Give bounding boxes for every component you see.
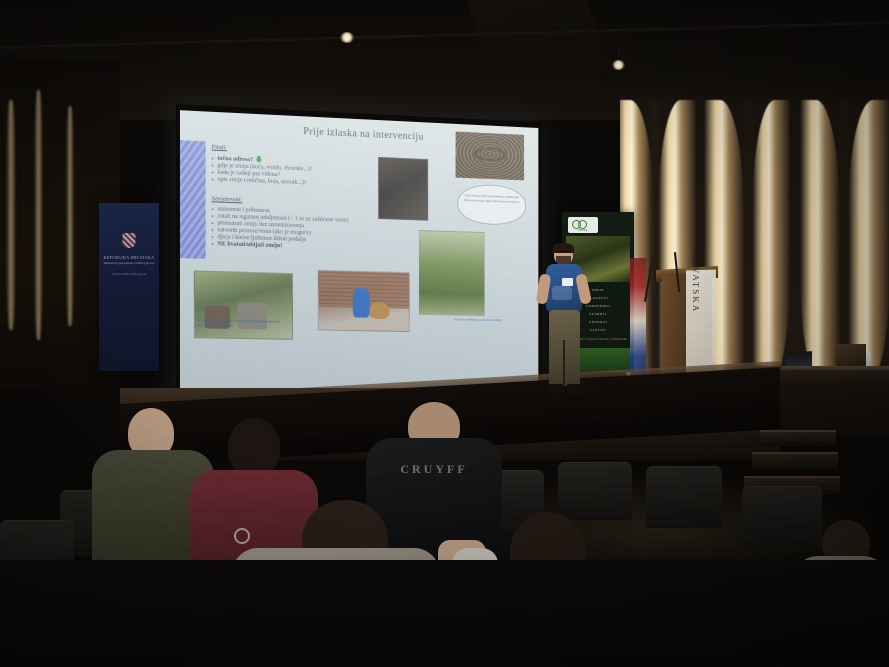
wall-light-wave [34, 90, 43, 340]
slide-photo-dark-interior [378, 157, 428, 221]
biota-logo: BIOTA [568, 217, 598, 233]
person-figure [353, 287, 369, 318]
stage-step-edge [752, 452, 838, 454]
croatian-flag [630, 258, 646, 384]
banner-left-line1: REPUBLIKA HRVATSKA [99, 255, 159, 260]
slide-photo-snake-coil [456, 132, 525, 181]
slide-caption-right: Nikad ne pokušavajte sami uhvatiti zmiju… [415, 317, 502, 323]
slide-speech-bubble: Ljudi obično budu prestrašeni pa mislim … [457, 183, 525, 226]
presenter-shoe [548, 384, 564, 393]
wall-light-wave [6, 100, 16, 330]
chair [742, 486, 822, 552]
snake-pattern [456, 132, 525, 181]
presenter-name-badge [562, 278, 573, 286]
audience-head [228, 418, 280, 476]
projection-screen: Prije izlaska na intervenciju Pitati: to… [176, 104, 542, 406]
presenter-shoe [566, 384, 582, 393]
stage-step-edge [760, 430, 836, 432]
location-pin-icon [256, 155, 261, 162]
presenter-figure [536, 244, 594, 404]
floor [0, 560, 889, 667]
wall-light-wave [752, 100, 790, 388]
wall-shadow-band [646, 100, 662, 388]
slide-photo-person-with-dog [318, 270, 410, 332]
croatian-coat-of-arms-icon [123, 233, 136, 248]
banner-left-line3: Zavod za zaštitu okoliša i prirode [99, 273, 159, 276]
wall-light-wave [800, 100, 840, 388]
slide-caption-left: ...ako je jako uznemiri, onda kontra/bor… [194, 318, 291, 329]
banner-white-text: HRVATSKA [691, 251, 701, 313]
ceiling-panel [467, 0, 613, 80]
back-wall-light-panels [620, 88, 889, 388]
stacked-boxes [836, 344, 866, 368]
stage-step [752, 452, 838, 469]
banner-right-org: BIOTA [568, 228, 598, 232]
stage-step [760, 430, 836, 446]
chair [646, 466, 722, 528]
banner-left-line2: Ministarstvo gospodarstva i održivog raz… [99, 262, 159, 265]
chair [558, 462, 632, 520]
ceiling-spotlight [612, 60, 625, 70]
slide-bullet-text: NE hvatati/ubijati zmiju! [217, 240, 282, 249]
presentation-slide: Prije izlaska na intervenciju Pitati: to… [180, 110, 538, 400]
presenter-shirt-print [552, 286, 572, 300]
banner-republika-hrvatska: REPUBLIKA HRVATSKA Ministarstvo gospodar… [99, 203, 159, 371]
dog-figure [369, 302, 389, 319]
glasses-icon [556, 251, 571, 255]
shirt-text-cruyff: CRUYFF [366, 462, 502, 477]
ceiling-spotlight [340, 32, 354, 43]
slide-photo-vegetation [419, 230, 485, 316]
speech-bubble-text: Ljudi obično budu prestrašeni pa mislim … [462, 193, 521, 204]
wall-shadow-band [742, 100, 756, 388]
spotlight-stem [618, 48, 620, 56]
slide-side-decoration [180, 140, 206, 259]
conference-hall-photo: Prije izlaska na intervenciju Pitati: to… [0, 0, 889, 667]
presenter-leg-split [563, 340, 565, 386]
shirt-logo-icon [234, 528, 250, 544]
wall-light-wave [66, 106, 74, 326]
